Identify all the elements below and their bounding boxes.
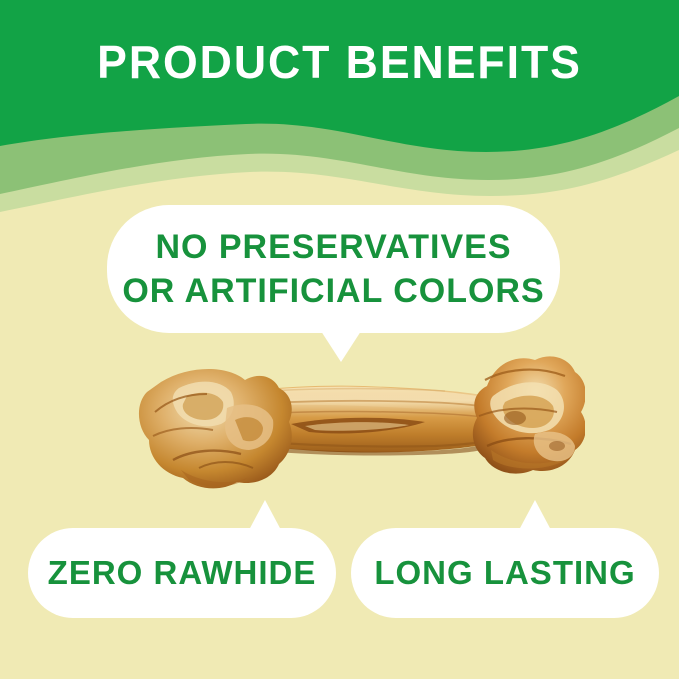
benefit-label-no-preservatives: NO PRESERVATIVES OR ARTIFICIAL COLORS	[110, 225, 556, 313]
page-title: PRODUCT BENEFITS	[10, 38, 669, 86]
bubble-tail-long-lasting	[519, 500, 551, 530]
benefit-label-long-lasting: LONG LASTING	[362, 554, 647, 592]
header-wave-background	[0, 0, 679, 230]
benefit-bubble-long-lasting[interactable]: LONG LASTING	[351, 528, 659, 618]
product-benefits-poster: PRODUCT BENEFITS	[0, 0, 679, 679]
bubble-tail-zero-rawhide	[249, 500, 281, 530]
bone-illustration	[95, 350, 585, 510]
benefit-bubble-zero-rawhide[interactable]: ZERO RAWHIDE	[28, 528, 336, 618]
bubble-tail-no-preservatives	[319, 328, 363, 362]
benefit-label-zero-rawhide: ZERO RAWHIDE	[36, 554, 329, 592]
benefit-bubble-no-preservatives[interactable]: NO PRESERVATIVES OR ARTIFICIAL COLORS	[107, 205, 560, 333]
product-bone-image	[95, 350, 585, 510]
